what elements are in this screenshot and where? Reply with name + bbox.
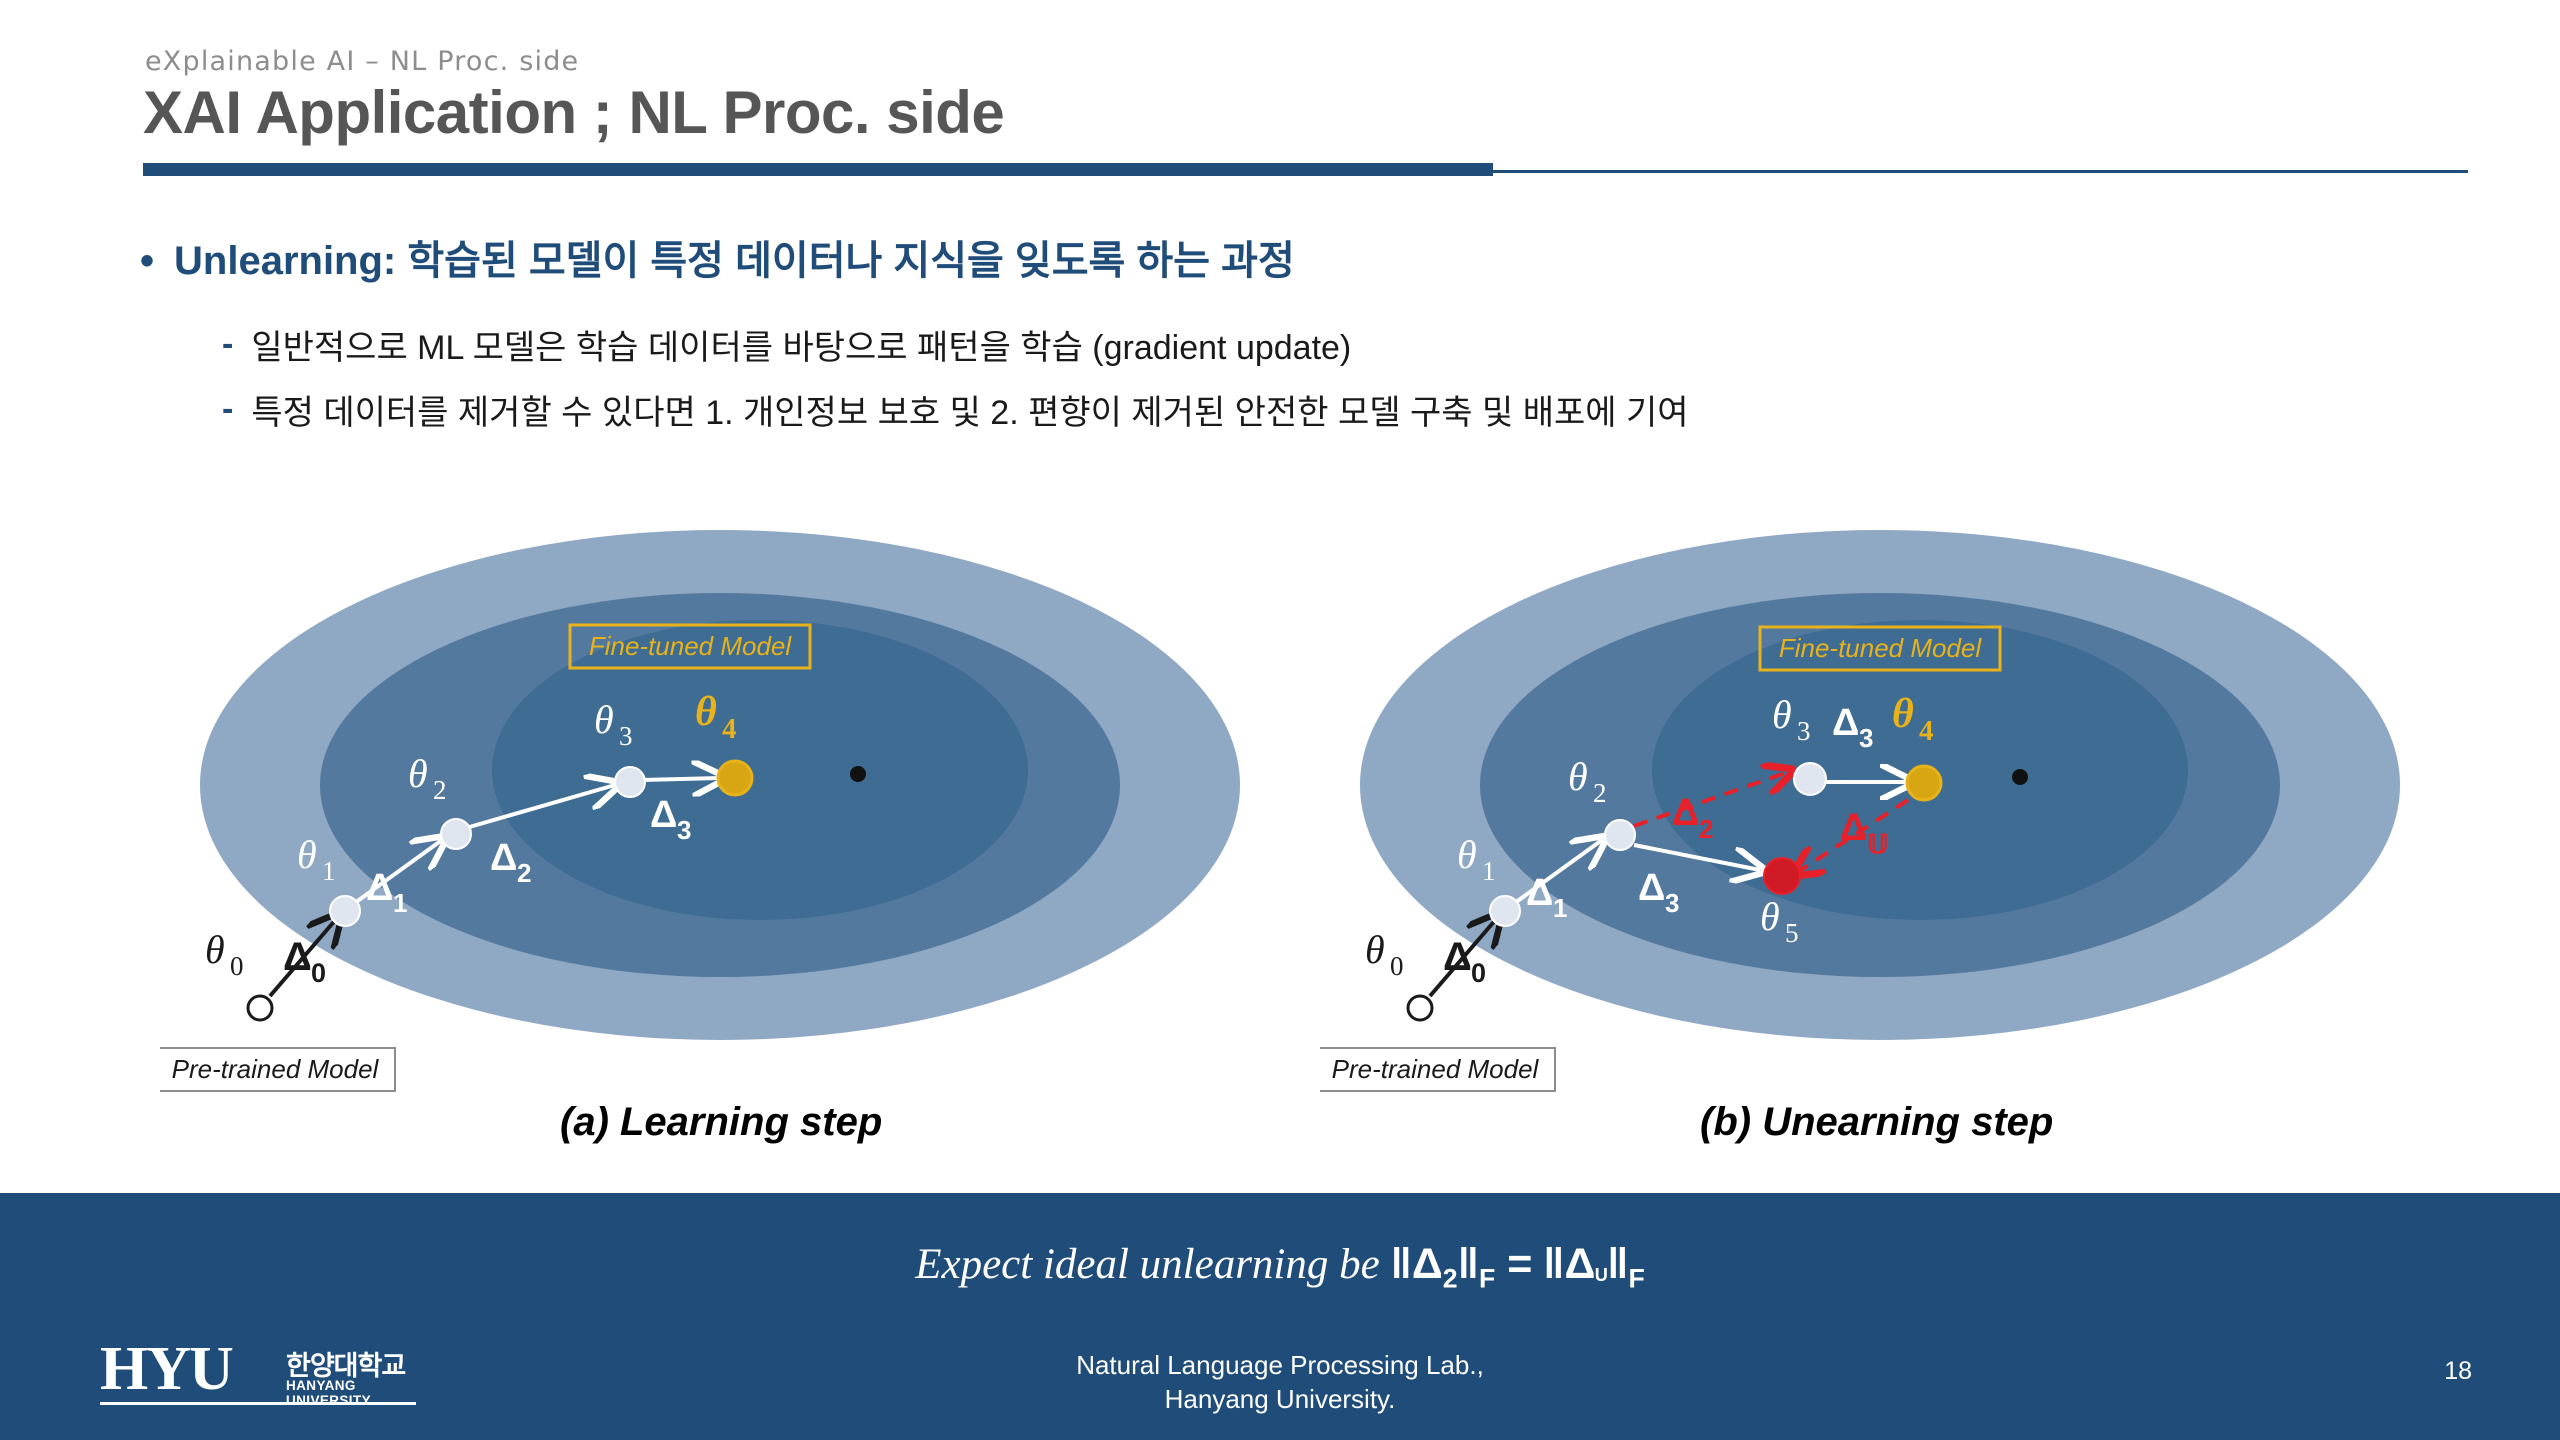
svg-text:𝕌: 𝕌: [1867, 829, 1889, 859]
bullet-marker-icon: •: [140, 239, 154, 284]
page-number: 18: [2444, 1357, 2472, 1386]
svg-text:1: 1: [1553, 893, 1567, 923]
label-delta2-red: Δ: [1672, 792, 1699, 834]
svg-text:1: 1: [393, 888, 407, 918]
label-theta0: θ: [205, 927, 225, 972]
caption-unlearning-step: (b) Unearning step: [1700, 1100, 2053, 1145]
label-theta1: θ: [297, 832, 317, 877]
svg-text:4: 4: [722, 713, 737, 745]
label-theta2: θ: [1568, 754, 1588, 799]
dash-marker-icon: -: [222, 325, 233, 364]
pretrained-label: Pre-trained Model: [172, 1054, 380, 1084]
node-theta1: [1490, 896, 1520, 926]
equation-equals: =: [1507, 1240, 1532, 1288]
hyu-logo: HYU 한양대학교 HANYANG UNIVERSITY: [100, 1338, 430, 1416]
arrow-delta3: [642, 778, 720, 780]
node-theta2: [441, 819, 471, 849]
svg-text:0: 0: [1471, 958, 1486, 988]
dash-marker-icon: -: [222, 390, 233, 429]
label-theta2: θ: [408, 751, 428, 796]
node-theta2: [1605, 820, 1635, 850]
svg-text:2: 2: [1699, 814, 1713, 844]
svg-text:2: 2: [517, 858, 531, 888]
banner-equation: Expect ideal unlearning be ‖Δ2‖F = ‖Δᵁ‖F: [0, 1240, 2560, 1295]
node-theta3: [615, 767, 645, 797]
node-optimum: [2012, 769, 2028, 785]
label-theta3: θ: [1772, 692, 1792, 737]
sub-bullet-2: -특정 데이터를 제거할 수 있다면 1. 개인정보 보호 및 2. 편향이 제…: [222, 385, 1689, 434]
svg-text:0: 0: [311, 958, 326, 988]
finetuned-label: Fine-tuned Model: [1779, 633, 1983, 663]
label-delta1: Δ: [1526, 872, 1553, 914]
node-theta4: [718, 761, 752, 795]
label-delta1: Δ: [366, 867, 393, 909]
label-theta4: θ: [695, 689, 717, 735]
equation-rhs: ‖Δᵁ‖F: [1543, 1240, 1645, 1288]
svg-text:2: 2: [433, 775, 447, 805]
svg-text:0: 0: [230, 951, 244, 981]
caption-learning-step: (a) Learning step: [560, 1100, 882, 1145]
node-theta3: [1794, 763, 1826, 795]
label-delta3-lower: Δ: [1638, 867, 1665, 909]
label-delta3-upper: Δ: [1832, 702, 1859, 744]
label-delta2: Δ: [490, 837, 517, 879]
svg-text:5: 5: [1785, 918, 1799, 948]
label-delta0: Δ: [1443, 935, 1472, 979]
label-theta1: θ: [1457, 832, 1477, 877]
label-delta3: Δ: [650, 794, 677, 836]
svg-text:0: 0: [1390, 951, 1404, 981]
bullet-unlearning: •Unlearning: 학습된 모델이 특정 데이터나 지식을 잊도록 하는 …: [140, 228, 1295, 286]
finetuned-label: Fine-tuned Model: [589, 631, 793, 661]
hyu-wordmark: HYU: [100, 1334, 232, 1405]
hyu-underline: [100, 1402, 416, 1405]
slide: eXplainable AI – NL Proc. side XAI Appli…: [0, 0, 2560, 1440]
label-theta0: θ: [1365, 927, 1385, 972]
sub-bullet-2-label: 특정 데이터를 제거할 수 있다면 1. 개인정보 보호 및 2. 편향이 제거…: [251, 394, 1688, 432]
node-optimum: [850, 766, 866, 782]
diagram-learning-step: θ 1 θ 2 θ 3 θ 4 θ 0 Δ 0 Δ 1 Δ 2 Δ 3 Fine…: [160, 500, 1360, 1140]
svg-text:1: 1: [1482, 856, 1496, 886]
sub-bullet-1: -일반적으로 ML 모델은 학습 데이터를 바탕으로 패턴을 학습 (gradi…: [222, 320, 1351, 369]
label-deltaU-red: Δ: [1840, 807, 1867, 849]
sub-bullet-1-label: 일반적으로 ML 모델은 학습 데이터를 바탕으로 패턴을 학습 (gradie…: [251, 329, 1351, 367]
svg-text:3: 3: [1859, 723, 1873, 753]
svg-text:3: 3: [1797, 716, 1811, 746]
svg-text:3: 3: [677, 815, 691, 845]
svg-text:1: 1: [322, 856, 336, 886]
ellipse-inner: [492, 620, 1028, 920]
node-theta1: [330, 896, 360, 926]
svg-text:3: 3: [1665, 888, 1679, 918]
label-theta5: θ: [1760, 894, 1780, 939]
header-rule-thin: [1493, 170, 2468, 173]
svg-text:2: 2: [1593, 778, 1607, 808]
node-theta4: [1907, 766, 1941, 800]
label-delta0: Δ: [283, 935, 312, 979]
node-theta0: [248, 996, 272, 1020]
pretrained-label: Pre-trained Model: [1332, 1054, 1540, 1084]
bullet-unlearning-label: Unlearning: 학습된 모델이 특정 데이터나 지식을 잊도록 하는 과…: [174, 239, 1295, 283]
diagram-unlearning-step: θ 1 θ 2 θ 3 θ 4 θ 5 θ 0 Δ 0 Δ 1 Δ 3 Δ 3 …: [1320, 500, 2520, 1140]
node-theta5: [1764, 858, 1800, 894]
svg-text:3: 3: [619, 721, 633, 751]
page-title: XAI Application ; NL Proc. side: [143, 78, 1004, 147]
label-theta4: θ: [1892, 691, 1914, 737]
equation-prefix: Expect ideal unlearning be: [915, 1241, 1380, 1288]
node-theta0: [1408, 996, 1432, 1020]
svg-text:4: 4: [1919, 715, 1934, 747]
slide-eyebrow: eXplainable AI – NL Proc. side: [145, 46, 579, 77]
equation-lhs: ‖Δ2‖F: [1390, 1240, 1507, 1288]
header-rule-thick: [143, 163, 1493, 176]
label-theta3: θ: [594, 697, 614, 742]
